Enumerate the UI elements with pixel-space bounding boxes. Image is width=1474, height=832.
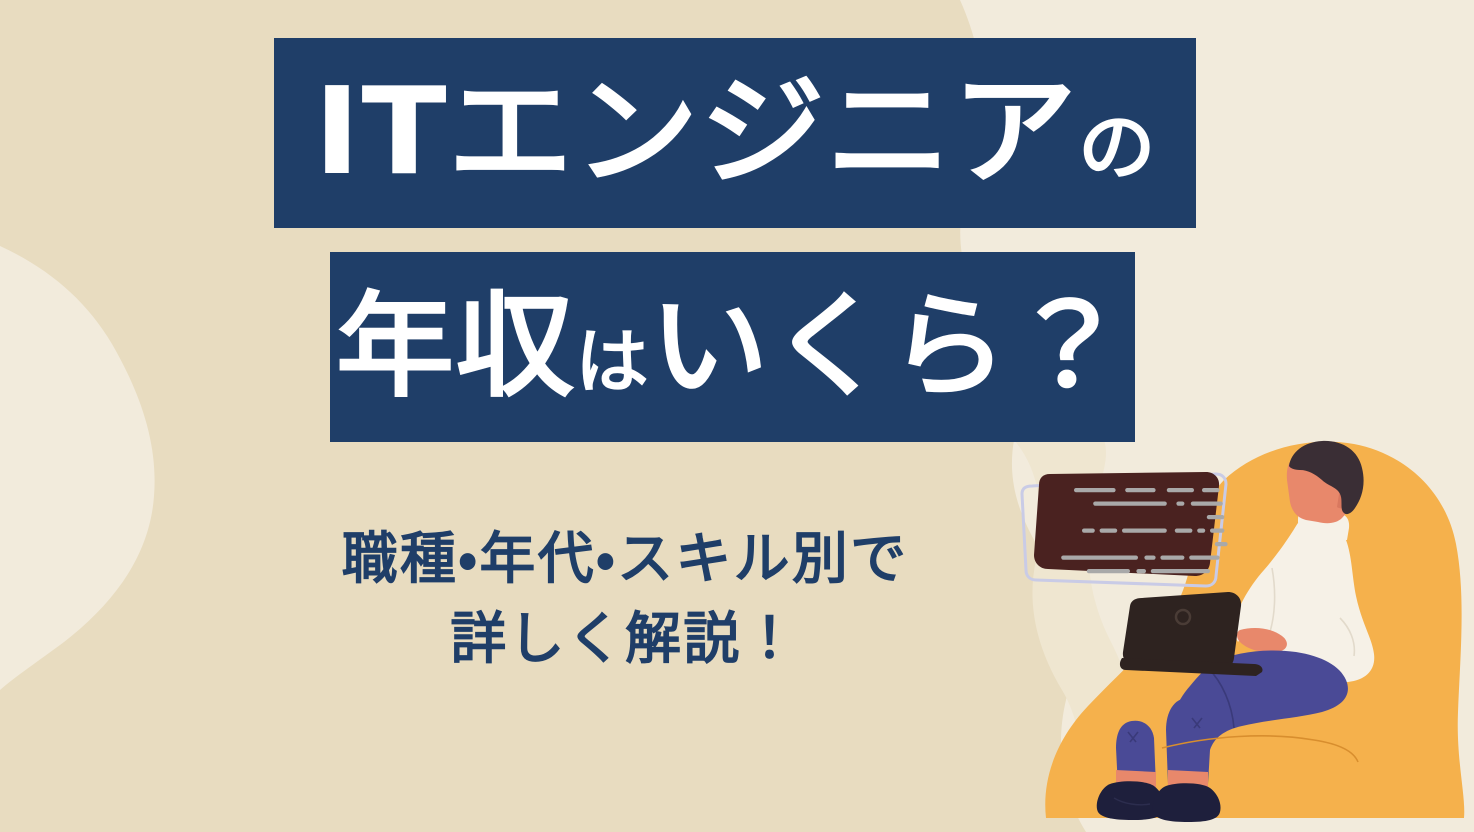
subtitle-block: 職種・年代・スキル別で 詳しく解説！ bbox=[210, 520, 1040, 679]
code-line-segment bbox=[1136, 569, 1146, 573]
subtitle-line-1: 職種・年代・スキル別で bbox=[210, 520, 1040, 600]
headline-box-secondary: 年収はいくら？ bbox=[330, 252, 1135, 442]
code-line-segment bbox=[1210, 529, 1224, 533]
code-line-segment bbox=[1061, 556, 1138, 560]
code-line-segment bbox=[1122, 529, 1167, 533]
developer-illustration bbox=[1010, 430, 1474, 832]
headline-line-2-part1: 年収 bbox=[336, 290, 575, 404]
headline-line-2-particle: は bbox=[575, 327, 650, 398]
code-line-segment bbox=[1125, 488, 1155, 492]
code-line-segment bbox=[1093, 502, 1167, 506]
code-line-segment bbox=[1202, 488, 1220, 492]
code-line-segment bbox=[1144, 556, 1155, 560]
code-line-segment bbox=[1100, 529, 1118, 533]
code-line-segment bbox=[1176, 502, 1184, 506]
headline-line-1-main: ITエンジニア bbox=[314, 73, 1078, 193]
code-window-body bbox=[1034, 472, 1219, 576]
code-line-segment bbox=[1191, 502, 1223, 506]
poster-canvas: ITエンジニアの 年収はいくら？ 職種・年代・スキル別で 詳しく解説！ bbox=[0, 0, 1474, 832]
headline-line-2-part2: いくら？ bbox=[650, 290, 1129, 404]
code-line-segment bbox=[1160, 556, 1184, 560]
background-blob-left bbox=[0, 246, 155, 690]
headline-line-1-particle: の bbox=[1078, 111, 1157, 185]
subtitle-line-2: 詳しく解説！ bbox=[210, 600, 1040, 680]
code-line-segment bbox=[1082, 529, 1095, 533]
code-line-segment bbox=[1189, 556, 1219, 560]
code-line-segment bbox=[1087, 569, 1130, 573]
headline-line-2: 年収はいくら？ bbox=[336, 290, 1129, 404]
code-line-segment bbox=[1197, 529, 1205, 533]
person-shoe-back bbox=[1153, 783, 1221, 822]
code-line-segment bbox=[1175, 529, 1193, 533]
code-line-segment bbox=[1215, 542, 1228, 546]
headline-line-1: ITエンジニアの bbox=[314, 73, 1157, 193]
code-line-segment bbox=[1207, 515, 1225, 519]
code-line-segment bbox=[1167, 488, 1194, 492]
code-line-segment bbox=[1151, 569, 1210, 573]
code-line-segment bbox=[1074, 488, 1116, 492]
headline-box-primary: ITエンジニアの bbox=[274, 38, 1196, 228]
